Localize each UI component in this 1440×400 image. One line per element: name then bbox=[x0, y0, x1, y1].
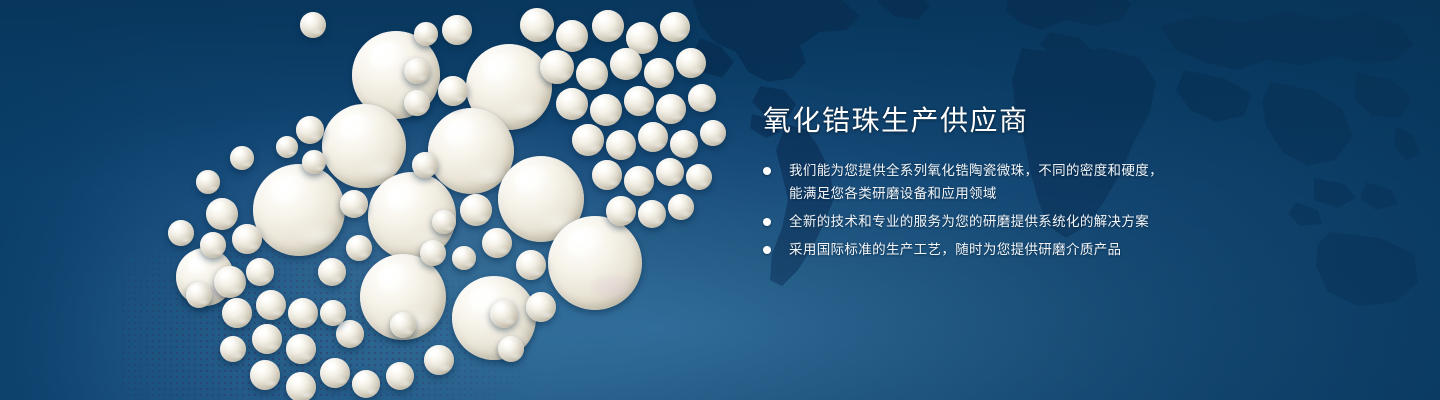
bead-small bbox=[592, 10, 624, 42]
bead-small bbox=[200, 232, 226, 258]
bead-small bbox=[688, 84, 716, 112]
bead-small bbox=[606, 130, 636, 160]
bead-small bbox=[624, 166, 654, 196]
bead-small bbox=[590, 94, 622, 126]
bead-small bbox=[520, 8, 554, 42]
bead-small bbox=[230, 146, 254, 170]
bead-medium bbox=[296, 116, 324, 144]
bead-small bbox=[220, 336, 246, 362]
bead-small bbox=[576, 58, 608, 90]
bead-medium bbox=[412, 152, 438, 178]
bead-small bbox=[286, 334, 316, 364]
bead-small bbox=[610, 48, 642, 80]
bead-small bbox=[206, 198, 238, 230]
bead-small bbox=[222, 298, 252, 328]
bead-small bbox=[232, 224, 262, 254]
bead-small bbox=[420, 240, 446, 266]
list-item-line: 采用国际标准的生产工艺，随时为您提供研磨介质产品 bbox=[789, 238, 1233, 261]
bead-small bbox=[320, 300, 346, 326]
bead-small bbox=[320, 358, 350, 388]
bead-small bbox=[256, 290, 286, 320]
bead-small bbox=[246, 258, 274, 286]
bead-small bbox=[302, 150, 326, 174]
bead-small bbox=[686, 164, 712, 190]
bead-small bbox=[186, 282, 212, 308]
bead-small bbox=[676, 48, 706, 78]
bead-small bbox=[300, 12, 326, 38]
bead-medium bbox=[346, 235, 372, 261]
bead-medium bbox=[414, 22, 438, 46]
bead-small bbox=[644, 58, 674, 88]
bead-small bbox=[288, 298, 318, 328]
bead-small bbox=[638, 200, 666, 228]
banner-content: 氧化锆珠生产供应商 我们能为您提供全系列氧化锆陶瓷微珠，不同的密度和硬度， 能满… bbox=[763, 104, 1233, 266]
bead-small bbox=[286, 372, 316, 400]
bead-small bbox=[572, 124, 604, 156]
bead-large bbox=[253, 164, 345, 256]
list-item: 我们能为您提供全系列氧化锆陶瓷微珠，不同的密度和硬度， 能满足您各类研磨设备和应… bbox=[763, 159, 1233, 205]
bead-medium bbox=[526, 292, 556, 322]
bead-medium bbox=[482, 228, 512, 258]
bead-medium bbox=[516, 250, 546, 280]
bead-small bbox=[196, 170, 220, 194]
feature-list: 我们能为您提供全系列氧化锆陶瓷微珠，不同的密度和硬度， 能满足您各类研磨设备和应… bbox=[763, 159, 1233, 261]
list-item-line: 我们能为您提供全系列氧化锆陶瓷微珠，不同的密度和硬度， bbox=[789, 159, 1233, 182]
bead-medium bbox=[404, 58, 430, 84]
bead-medium bbox=[438, 76, 468, 106]
list-item: 采用国际标准的生产工艺，随时为您提供研磨介质产品 bbox=[763, 238, 1233, 261]
bullet-dot-icon bbox=[763, 218, 771, 226]
page-title: 氧化锆珠生产供应商 bbox=[763, 104, 1233, 138]
bead-small bbox=[498, 336, 524, 362]
bead-small bbox=[656, 158, 684, 186]
bead-small bbox=[668, 194, 694, 220]
bead-small bbox=[386, 362, 414, 390]
list-item: 全新的技术和专业的服务为您的研磨提供系统化的解决方案 bbox=[763, 210, 1233, 233]
bead-small bbox=[540, 50, 574, 84]
bead-small bbox=[624, 86, 654, 116]
bead-small bbox=[670, 130, 698, 158]
bead-small bbox=[432, 210, 456, 234]
bead-small bbox=[252, 324, 282, 354]
bead-small bbox=[168, 220, 194, 246]
bead-small bbox=[250, 360, 280, 390]
bullet-dot-icon bbox=[763, 167, 771, 175]
bead-small bbox=[638, 122, 668, 152]
bead-small bbox=[452, 246, 476, 270]
bead-medium bbox=[318, 258, 346, 286]
bead-medium bbox=[340, 190, 368, 218]
zirconia-beads-image bbox=[0, 0, 740, 400]
bead-small bbox=[352, 370, 380, 398]
list-item-line: 能满足您各类研磨设备和应用领域 bbox=[789, 182, 1233, 205]
bead-small bbox=[490, 300, 518, 328]
bead-small bbox=[214, 266, 246, 298]
list-item-line: 全新的技术和专业的服务为您的研磨提供系统化的解决方案 bbox=[789, 210, 1233, 233]
bead-medium bbox=[424, 345, 454, 375]
bead-small bbox=[656, 94, 686, 124]
bead-small bbox=[700, 120, 726, 146]
bead-small bbox=[276, 136, 298, 158]
bead-medium bbox=[460, 194, 492, 226]
bead-medium bbox=[404, 90, 430, 116]
bead-small bbox=[390, 312, 416, 338]
bead-medium bbox=[336, 320, 364, 348]
bead-small bbox=[556, 20, 588, 52]
bead-small bbox=[660, 12, 690, 42]
bead-small bbox=[556, 88, 588, 120]
hero-banner: 氧化锆珠生产供应商 我们能为您提供全系列氧化锆陶瓷微珠，不同的密度和硬度， 能满… bbox=[0, 0, 1440, 400]
bead-large bbox=[548, 216, 642, 310]
bead-medium bbox=[442, 15, 472, 45]
bullet-dot-icon bbox=[763, 246, 771, 254]
bead-small bbox=[592, 160, 622, 190]
bead-small bbox=[606, 196, 636, 226]
